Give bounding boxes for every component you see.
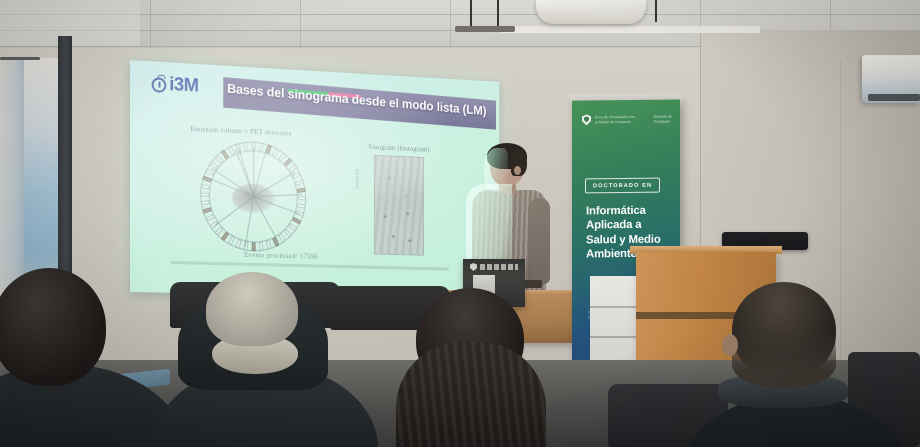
audience-member-right <box>714 282 884 447</box>
presenter-ear <box>514 166 521 175</box>
projector-mount-rod <box>470 0 472 28</box>
projector-light-spill-head <box>484 148 508 192</box>
sinogram-axis-label: Radial bin <box>356 169 361 189</box>
audience-beanie <box>206 272 298 346</box>
presenter-arm <box>528 198 550 284</box>
banner-org-left: Área de Vinculación con el Medio de Huma… <box>595 114 635 124</box>
projection-screen: i3M Bases del sinograma desde el modo li… <box>130 60 499 299</box>
university-shield-icon <box>582 114 591 125</box>
ceiling-tray <box>500 26 760 33</box>
air-conditioner-vent <box>868 94 920 101</box>
caption-events-processed: Events processed: 17596 <box>244 251 318 261</box>
audience-hair-fade <box>732 334 836 388</box>
sinogram-image <box>374 155 424 256</box>
lectern-logo-text <box>480 264 518 270</box>
audience-member-beanie <box>178 272 348 447</box>
projector-mount-rod <box>655 0 657 22</box>
i3m-stopwatch-logo-icon <box>152 77 167 93</box>
slide-logo-text: i3M <box>169 74 198 97</box>
audience-member-left <box>0 268 178 447</box>
banner-org-right: Escuela de Postgrado <box>654 114 672 124</box>
audience-hair <box>396 342 546 447</box>
audience-head <box>0 268 106 386</box>
lectern-shield-icon <box>470 263 477 271</box>
ceiling-projector <box>536 0 646 24</box>
audience-ear <box>722 334 738 356</box>
projector-mount-rod <box>497 0 499 28</box>
slide-underline <box>171 261 449 271</box>
caption-emission-volume: Emission volume + PET detectors <box>191 125 292 138</box>
projector-plate <box>455 26 515 32</box>
curtain-rod <box>0 57 40 60</box>
caption-sinogram: Sinogram (histogram) <box>368 143 429 153</box>
slide-logo: i3M <box>152 73 199 97</box>
lecture-hall-photo: i3M Bases del sinograma desde el modo li… <box>0 0 920 447</box>
pet-detector-ring-diagram <box>200 139 306 252</box>
banner-kicker: DOCTORADO EN <box>585 178 660 194</box>
audience-member-long-hair <box>394 288 564 447</box>
banner-logo-row: Área de Vinculación con el Medio de Huma… <box>582 114 672 126</box>
